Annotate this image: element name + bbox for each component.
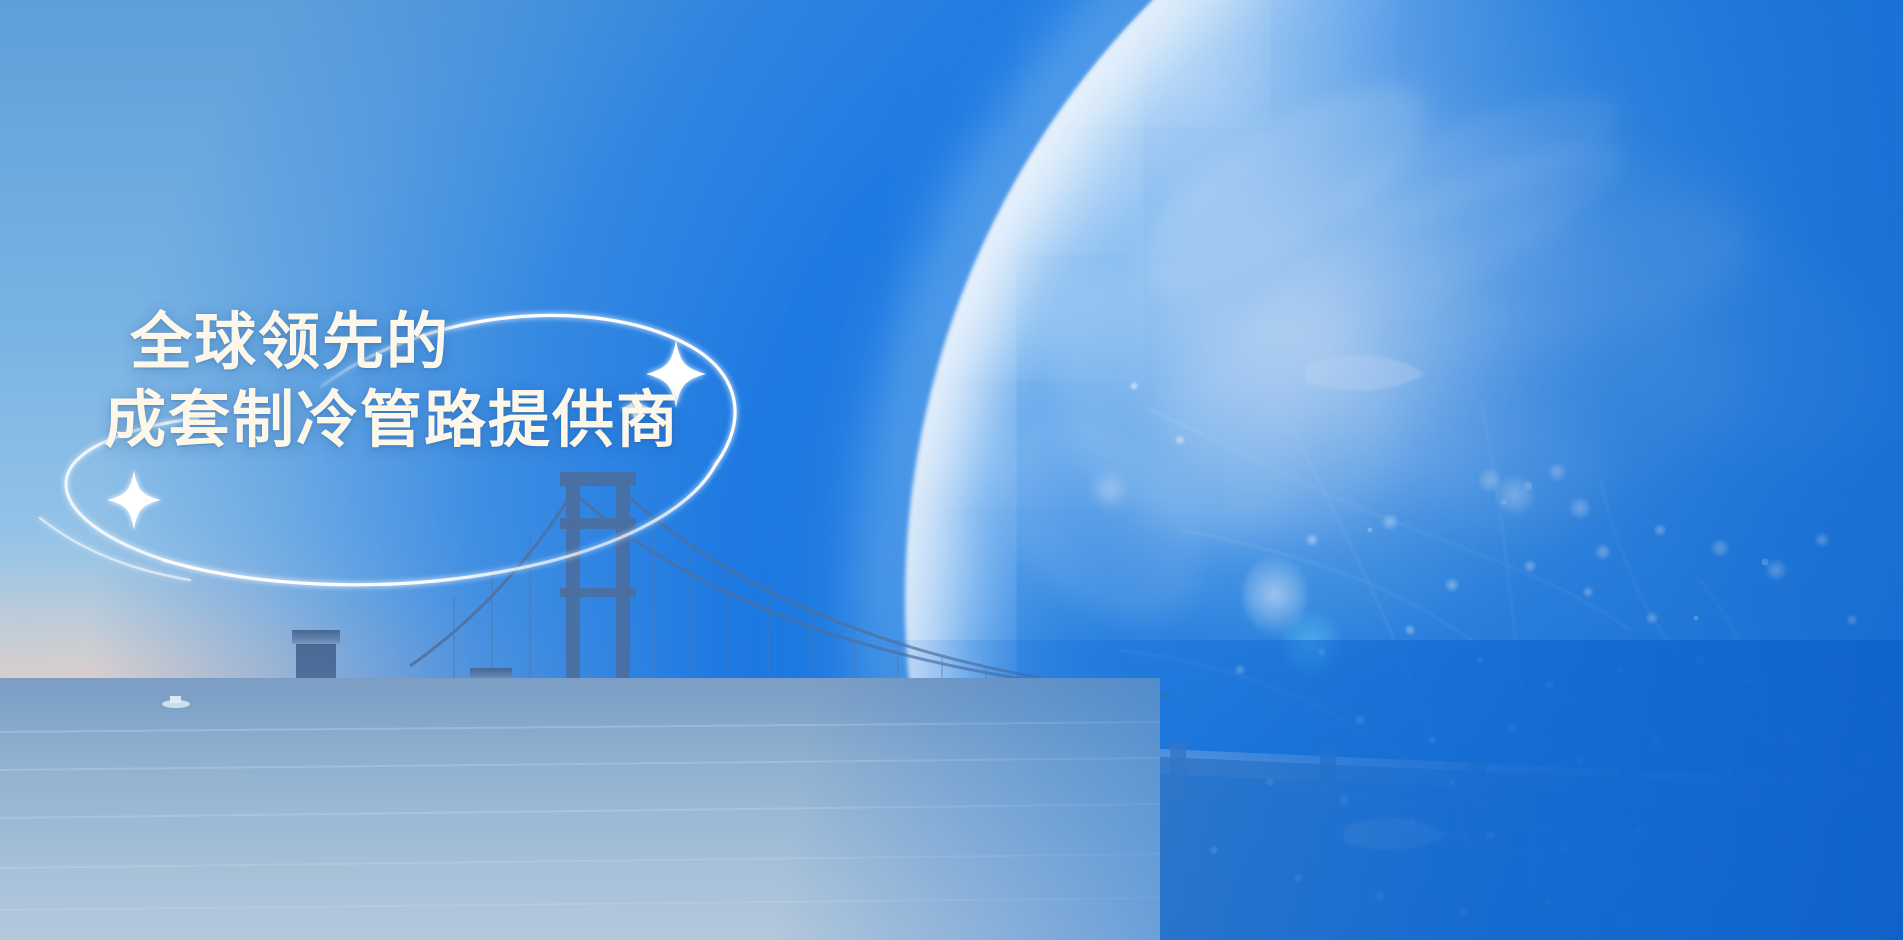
hero-banner: 全球领先的 成套制冷管路提供商 [0,0,1903,940]
water-blue-blend [0,640,1903,940]
headline-line-2: 成套制冷管路提供商 [104,384,864,458]
sparkle-star-left [107,470,161,530]
headline-line-1: 全球领先的 [130,306,864,380]
headline-block: 全球领先的 成套制冷管路提供商 [104,306,864,458]
